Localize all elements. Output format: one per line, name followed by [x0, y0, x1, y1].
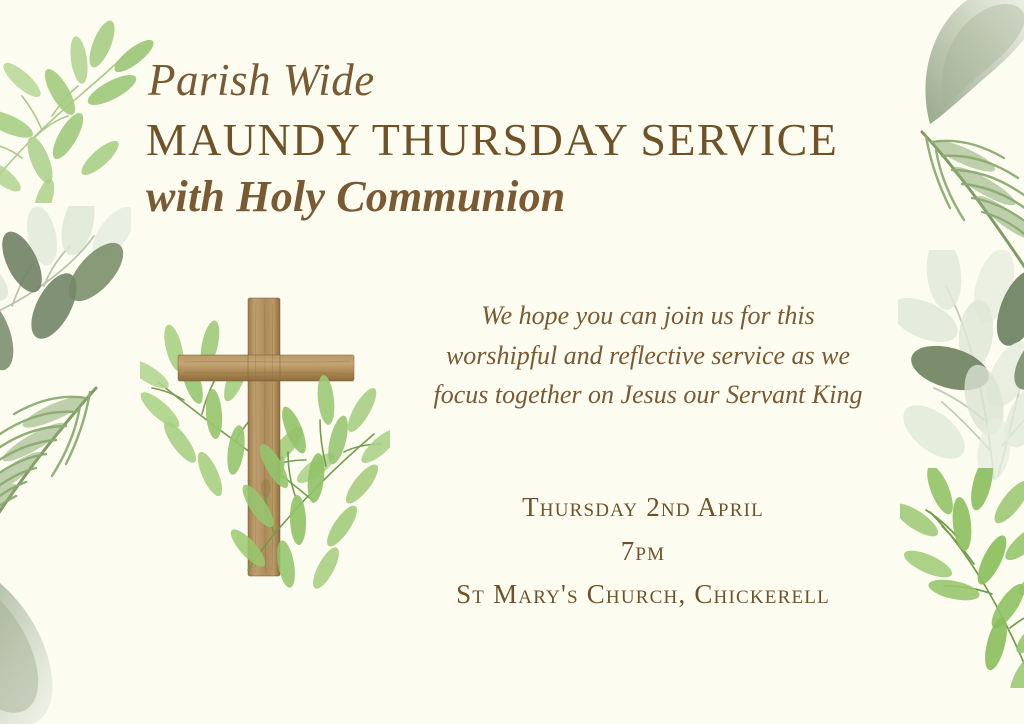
sage-brushstroke-bottom-left-icon	[0, 548, 100, 724]
event-date: Thursday 2nd April	[398, 486, 888, 530]
eyebrow-heading: Parish Wide	[148, 58, 906, 103]
olive-branch-bottom-right-icon	[900, 468, 1024, 688]
palm-frond-left-icon	[0, 382, 108, 542]
palm-frond-top-right-icon	[918, 126, 1024, 276]
invitation-text: We hope you can join us for this worship…	[398, 296, 898, 415]
event-details: Thursday 2nd April 7pm St Mary's Church,…	[398, 486, 888, 617]
invitation-line-2: worshipful and reflective service as we	[398, 336, 898, 376]
eucalyptus-sprig-left-icon	[0, 206, 131, 381]
cross-illustration	[140, 282, 390, 592]
event-time: 7pm	[398, 530, 888, 574]
subtitle-heading: with Holy Communion	[146, 175, 906, 219]
heading-block: Parish Wide MAUNDY THURSDAY SERVICE with…	[146, 58, 906, 219]
event-location: St Mary's Church, Chickerell	[398, 573, 888, 617]
invitation-line-3: focus together on Jesus our Servant King	[398, 375, 898, 415]
invitation-line-1: We hope you can join us for this	[398, 296, 898, 336]
poster-canvas: Parish Wide MAUNDY THURSDAY SERVICE with…	[0, 0, 1024, 724]
eucalyptus-sprig-right-icon	[898, 250, 1024, 480]
page-title: MAUNDY THURSDAY SERVICE	[146, 117, 906, 163]
sage-brushstroke-top-right-icon	[908, 0, 1024, 134]
